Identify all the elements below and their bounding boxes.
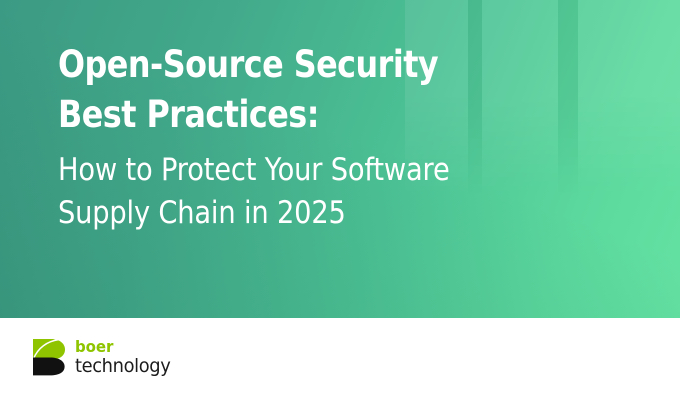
brand-name-secondary: technology xyxy=(75,357,170,376)
brand-logo: boer technology xyxy=(31,335,177,379)
boer-logo-mark-icon xyxy=(31,337,67,377)
headline-line-2: Best Practices: xyxy=(58,90,574,140)
footer-bar: boer technology xyxy=(0,318,680,400)
page-subtitle: How to Protect Your Software Supply Chai… xyxy=(58,149,586,235)
social-banner: Open-Source Security Best Practices: How… xyxy=(0,0,680,400)
banner-text-block: Open-Source Security Best Practices: How… xyxy=(58,40,658,235)
brand-logo-wordmark: boer technology xyxy=(75,339,177,376)
headline-line-1: Open-Source Security xyxy=(58,40,574,90)
subhead-line-1: How to Protect Your Software xyxy=(58,149,586,192)
hero-background: Open-Source Security Best Practices: How… xyxy=(0,0,680,318)
page-title: Open-Source Security Best Practices: xyxy=(58,40,574,140)
subhead-line-2: Supply Chain in 2025 xyxy=(58,192,586,235)
brand-name-primary: boer xyxy=(75,339,170,355)
